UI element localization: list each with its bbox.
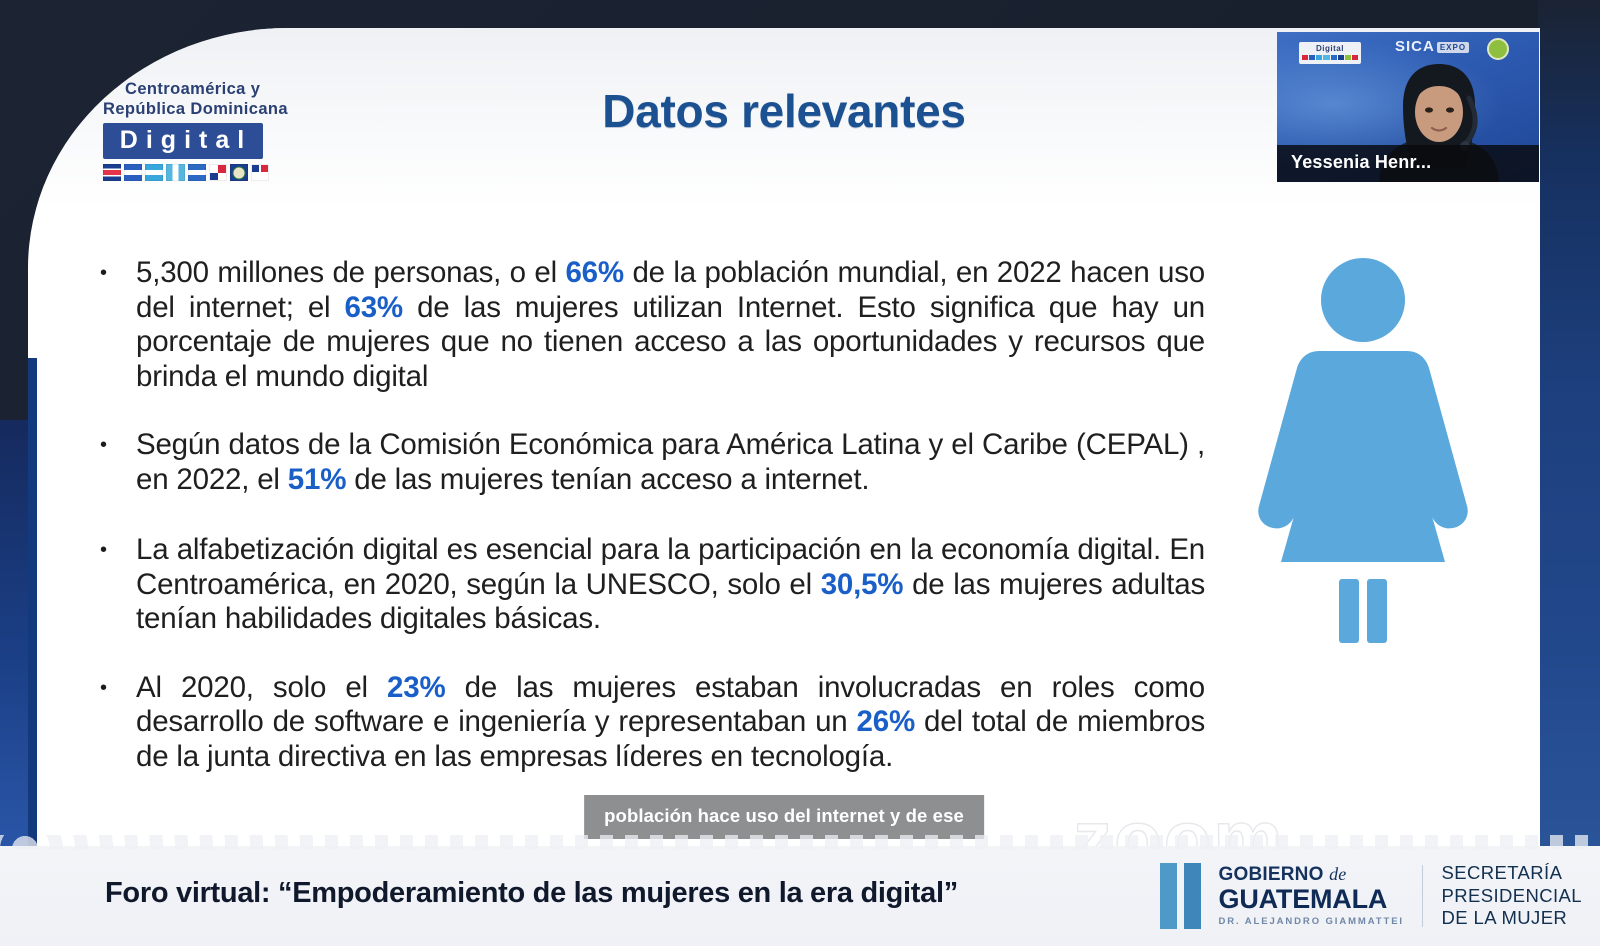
video-bg-digital-text: Digital bbox=[1316, 44, 1344, 53]
video-bg-flag-strip bbox=[1299, 54, 1361, 60]
logo-divider bbox=[1422, 865, 1424, 927]
participant-video-tile[interactable]: Digital SICAEXPO Yessen bbox=[1277, 32, 1539, 182]
flag-belize-icon bbox=[230, 164, 248, 181]
highlighted-statistic: 63% bbox=[345, 291, 403, 324]
video-bg-seal-icon bbox=[1487, 38, 1509, 60]
highlighted-statistic: 23% bbox=[387, 671, 445, 704]
gobierno-word: GOBIERNO bbox=[1219, 864, 1324, 885]
gobierno-de-word: de bbox=[1329, 864, 1346, 884]
event-title: Foro virtual: “Empoderamiento de las muj… bbox=[105, 877, 958, 910]
live-caption-box: población hace uso del internet y de ese bbox=[584, 795, 984, 839]
flag-guatemala-icon bbox=[166, 164, 184, 181]
highlighted-statistic: 30,5% bbox=[821, 568, 904, 601]
bullet-text: Al 2020, solo el 23% de las mujeres esta… bbox=[136, 671, 1205, 775]
right-accent-wedge bbox=[1538, 0, 1600, 860]
gobierno-line: GOBIERNO de bbox=[1219, 865, 1404, 884]
bottom-banner: Foro virtual: “Empoderamiento de las muj… bbox=[0, 846, 1600, 946]
bullet-text: La alfabetización digital es esencial pa… bbox=[136, 533, 1205, 637]
president-name: DR. ALEJANDRO GIAMMATTEI bbox=[1219, 917, 1404, 927]
flag-panama-icon bbox=[209, 164, 227, 181]
bullet-item: •Según datos de la Comisión Económica pa… bbox=[100, 428, 1205, 497]
secretariat-line-2: PRESIDENCIAL bbox=[1441, 885, 1582, 908]
highlighted-statistic: 51% bbox=[288, 463, 346, 496]
bullet-item: •Al 2020, solo el 23% de las mujeres est… bbox=[100, 671, 1205, 775]
guatemala-bars-icon bbox=[1160, 863, 1201, 929]
logo-flag-strip bbox=[103, 164, 269, 181]
bullet-list: •5,300 millones de personas, o el 66% de… bbox=[100, 256, 1205, 804]
flag-el-salvador-icon bbox=[124, 164, 142, 181]
bullet-marker-icon: • bbox=[100, 671, 136, 775]
video-bg-sica-brand: SICAEXPO bbox=[1395, 38, 1469, 55]
banner-scallop-edge bbox=[0, 835, 1600, 849]
video-bg-sica-text: SICA bbox=[1395, 38, 1435, 55]
flag-nicaragua-icon bbox=[188, 164, 206, 181]
secretaria-presidencial-mujer-logo: SECRETARÍA PRESIDENCIAL DE LA MUJER bbox=[1441, 862, 1582, 930]
flag-dominican-republic-icon bbox=[251, 164, 269, 181]
bullet-item: •5,300 millones de personas, o el 66% de… bbox=[100, 256, 1205, 394]
gobierno-de-guatemala-logo: GOBIERNO de GUATEMALA DR. ALEJANDRO GIAM… bbox=[1219, 865, 1404, 927]
woman-figure-icon bbox=[1213, 253, 1513, 643]
banner-logo-group: GOBIERNO de GUATEMALA DR. ALEJANDRO GIAM… bbox=[1160, 862, 1582, 930]
slide-left-rule bbox=[28, 358, 37, 848]
bullet-text: 5,300 millones de personas, o el 66% de … bbox=[136, 256, 1205, 394]
bullet-marker-icon: • bbox=[100, 256, 136, 394]
video-bg-digital-logo: Digital bbox=[1299, 42, 1361, 64]
flag-honduras-icon bbox=[145, 164, 163, 181]
participant-name-label: Yessenia Henr... bbox=[1277, 145, 1539, 182]
bullet-item: •La alfabetización digital es esencial p… bbox=[100, 533, 1205, 637]
highlighted-statistic: 26% bbox=[857, 705, 915, 738]
flag-costa-rica-icon bbox=[103, 164, 121, 181]
video-bg-sica-sub: EXPO bbox=[1437, 42, 1469, 53]
secretariat-line-3: DE LA MUJER bbox=[1441, 907, 1582, 930]
bullet-marker-icon: • bbox=[100, 533, 136, 637]
bullet-text: Según datos de la Comisión Económica par… bbox=[136, 428, 1205, 497]
secretariat-line-1: SECRETARÍA bbox=[1441, 862, 1582, 885]
highlighted-statistic: 66% bbox=[565, 256, 623, 289]
guatemala-word: GUATEMALA bbox=[1219, 886, 1404, 913]
bullet-marker-icon: • bbox=[100, 428, 136, 497]
